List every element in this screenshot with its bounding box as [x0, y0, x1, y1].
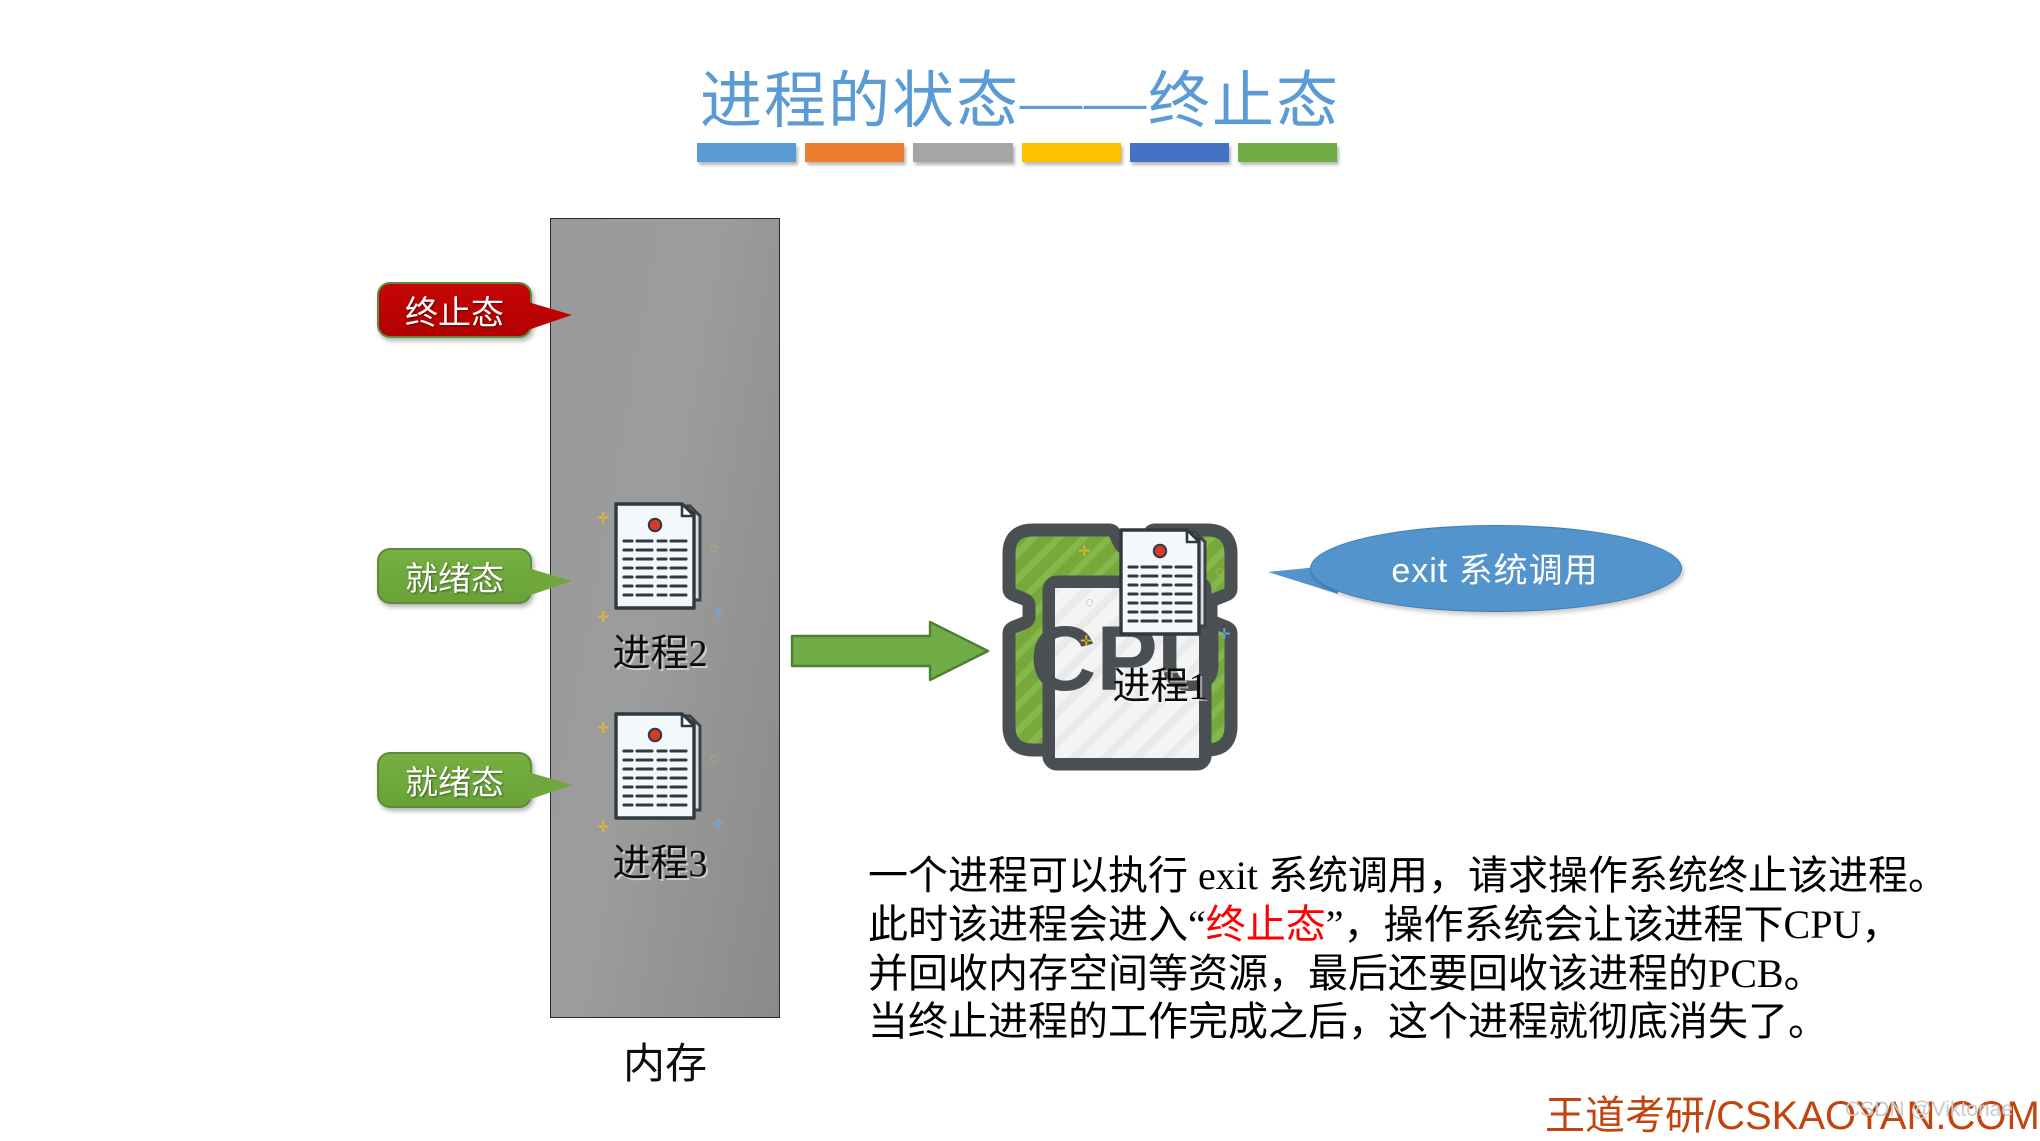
callout-ready-state-1[interactable]: 就绪态	[377, 548, 532, 604]
watermark-text: CSDN @Viktoriae	[1845, 1098, 2013, 1122]
process-1-label: 进程1	[1060, 655, 1260, 710]
explanation-line-3: 并回收内存空间等资源，最后还要回收该进程的PCB。	[868, 950, 1978, 999]
process-document-icon[interactable]	[1117, 528, 1213, 646]
callout-terminated-state[interactable]: 终止态	[377, 282, 532, 338]
sparkle-plus-icon: ✛	[712, 608, 725, 623]
memory-label: 内存	[550, 1030, 780, 1091]
sparkle-circle-icon: ◌	[710, 542, 719, 557]
process-document-icon[interactable]	[612, 712, 708, 830]
bubble-label: exit 系统调用	[1310, 525, 1680, 610]
accent-bar-navy	[1130, 143, 1229, 162]
sparkle-plus-icon: ✛	[1080, 635, 1093, 650]
sparkle-plus-icon: ✛	[597, 722, 610, 737]
sparkle-circle-icon: ◌	[601, 778, 610, 793]
explanation-line-2-suffix: ”，操作系统会让该进程下CPU，	[1326, 902, 1902, 947]
explanation-line-2-prefix: 此时该进程会进入“	[868, 902, 1206, 947]
sparkle-plus-icon: ✛	[712, 818, 725, 833]
callout-terminated-label: 终止态	[405, 286, 504, 334]
callout-ready-1-label: 就绪态	[405, 552, 504, 600]
sparkle-plus-icon: ✛	[1218, 628, 1231, 643]
process-document-icon[interactable]	[612, 502, 708, 620]
sparkle-circle-icon: ◌	[601, 568, 610, 583]
slide-canvas: 进程的状态——终止态 内存 终止态 就绪态 就绪态 ✛ ◌ ✛ ◌ ✛	[0, 0, 2040, 1140]
explanation-highlight-terminated: 终止态	[1206, 902, 1326, 947]
accent-bar-blue	[697, 143, 796, 162]
callout-tail-icon	[528, 568, 572, 596]
explanation-line-4: 当终止进程的工作完成之后，这个进程就彻底消失了。	[868, 998, 1978, 1047]
callout-tail-icon	[528, 302, 572, 330]
process-2-label: 进程2	[560, 622, 760, 677]
sparkle-circle-icon: ◌	[1215, 565, 1224, 580]
exit-syscall-callout[interactable]: exit 系统调用	[1310, 525, 1680, 610]
callout-ready-2-label: 就绪态	[405, 756, 504, 804]
sparkle-circle-icon: ◌	[710, 752, 719, 767]
accent-bar-yellow	[1022, 143, 1121, 162]
explanation-line-1: 一个进程可以执行 exit 系统调用，请求操作系统终止该进程。	[868, 852, 1978, 901]
sparkle-circle-icon: ◌	[1085, 596, 1094, 611]
accent-bar-orange	[805, 143, 904, 162]
callout-tail-icon	[528, 772, 572, 800]
accent-bar-green	[1238, 143, 1337, 162]
explanation-paragraph: 一个进程可以执行 exit 系统调用，请求操作系统终止该进程。 此时该进程会进入…	[868, 852, 1978, 1047]
accent-bar-gray	[913, 143, 1012, 162]
explanation-line-2: 此时该进程会进入“终止态”，操作系统会让该进程下CPU，	[868, 901, 1978, 950]
callout-ready-state-2[interactable]: 就绪态	[377, 752, 532, 808]
process-3-label: 进程3	[560, 832, 760, 887]
page-title: 进程的状态——终止态	[0, 50, 2040, 140]
title-accent-bars	[697, 143, 1337, 163]
dispatch-arrow-icon	[790, 620, 990, 682]
sparkle-plus-icon: ✛	[1078, 545, 1091, 560]
sparkle-plus-icon: ✛	[597, 512, 610, 527]
